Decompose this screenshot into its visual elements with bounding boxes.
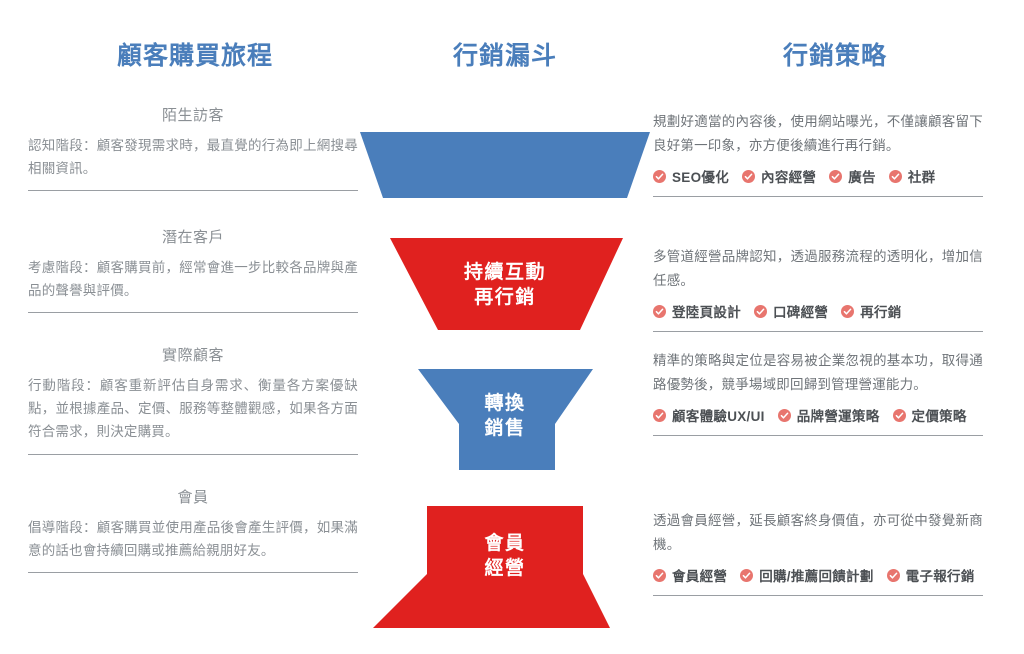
journey-stage-title: 潛在客戶	[28, 226, 358, 247]
strategy-tag-list: 顧客體驗UX/UI 品牌營運策略 定價策略	[653, 405, 983, 425]
check-circle-icon	[889, 170, 902, 183]
section-divider	[28, 454, 358, 455]
check-circle-icon	[829, 170, 842, 183]
strategy-tag-label: SEO優化	[672, 166, 729, 186]
journey-stage-2: 潛在客戶 考慮階段：顧客購買前，經常會進一步比較各品牌與產品的聲譽與評價。	[28, 226, 358, 313]
check-circle-icon	[754, 305, 767, 318]
funnel-shape-membership	[355, 506, 655, 628]
section-divider	[28, 190, 358, 191]
strategy-tag-label: 內容經營	[761, 166, 816, 186]
strategy-description: 精準的策略與定位是容易被企業忽視的基本功，取得通路優勢後，競爭場域即回歸到管理營…	[653, 349, 983, 396]
strategy-tag-label: 顧客體驗UX/UI	[672, 405, 765, 425]
strategy-tag-label: 品牌營運策略	[797, 405, 880, 425]
strategy-tag[interactable]: 品牌營運策略	[778, 405, 880, 425]
strategy-tag[interactable]: 顧客體驗UX/UI	[653, 405, 765, 425]
strategy-tag-list: 登陸頁設計 口碑經營 再行銷	[653, 301, 983, 321]
strategy-tag[interactable]: 社群	[889, 166, 936, 186]
section-divider	[28, 312, 358, 313]
funnel-segment-4[interactable]: 會員 經營	[355, 506, 655, 628]
journey-stage-description: 認知階段：顧客發現需求時，最直覺的行為即上網搜尋相關資訊。	[28, 134, 358, 180]
strategy-block-4: 透過會員經營，延長顧客終身價值，亦可從中發覺新商機。 會員經營 回購/推薦回饋計…	[653, 509, 983, 596]
funnel-shape-engagement	[355, 238, 655, 330]
strategy-block-2: 多管道經營品牌認知，透過服務流程的透明化，增加信任感。 登陸頁設計 口碑經營	[653, 245, 983, 332]
strategy-block-3: 精準的策略與定位是容易被企業忽視的基本功，取得通路優勢後，競爭場域即回歸到管理營…	[653, 349, 983, 436]
journey-stage-title: 實際顧客	[28, 344, 358, 365]
strategy-tag-label: 回購/推薦回饋計劃	[759, 565, 873, 585]
strategy-tag[interactable]: 口碑經營	[754, 301, 828, 321]
strategy-tag-label: 再行銷	[860, 301, 901, 321]
header-marketing-strategy: 行銷策略	[645, 36, 1024, 72]
strategy-tag-label: 口碑經營	[773, 301, 828, 321]
check-circle-icon	[841, 305, 854, 318]
strategy-tag[interactable]: 電子報行銷	[887, 565, 975, 585]
strategy-description: 多管道經營品牌認知，透過服務流程的透明化，增加信任感。	[653, 245, 983, 292]
check-circle-icon	[653, 409, 666, 422]
strategy-tag-label: 社群	[908, 166, 936, 186]
funnel-shape-traffic	[355, 132, 655, 198]
check-circle-icon	[653, 170, 666, 183]
journey-stage-description: 倡導階段：顧客購買並使用產品後會產生評價，如果滿意的話也會持續回購或推薦給親朋好…	[28, 516, 358, 562]
funnel-segment-1[interactable]	[355, 132, 655, 198]
journey-stage-description: 考慮階段：顧客購買前，經常會進一步比較各品牌與產品的聲譽與評價。	[28, 256, 358, 302]
check-circle-icon	[742, 170, 755, 183]
strategy-tag-list: SEO優化 內容經營 廣告	[653, 166, 983, 186]
strategy-tag-label: 定價策略	[912, 405, 967, 425]
section-divider	[653, 595, 983, 596]
strategy-tag-list: 會員經營 回購/推薦回饋計劃 電子報行銷	[653, 565, 983, 585]
check-circle-icon	[893, 409, 906, 422]
strategy-tag[interactable]: 廣告	[829, 166, 876, 186]
section-divider	[653, 435, 983, 436]
strategy-tag-label: 廣告	[848, 166, 876, 186]
journey-stage-4: 會員 倡導階段：顧客購買並使用產品後會產生評價，如果滿意的話也會持續回購或推薦給…	[28, 486, 358, 573]
journey-stage-title: 會員	[28, 486, 358, 507]
header-customer-journey: 顧客購買旅程	[0, 36, 390, 72]
section-divider	[653, 331, 983, 332]
strategy-tag-label: 電子報行銷	[906, 565, 975, 585]
funnel-infographic: 顧客購買旅程 行銷漏斗 行銷策略 陌生訪客 認知階段：顧客發現需求時，最直覺的行…	[0, 0, 1024, 654]
column-headers: 顧客購買旅程 行銷漏斗 行銷策略	[0, 0, 1024, 96]
strategy-description: 透過會員經營，延長顧客終身價值，亦可從中發覺新商機。	[653, 509, 983, 556]
strategy-tag[interactable]: 會員經營	[653, 565, 727, 585]
strategy-tag[interactable]: 登陸頁設計	[653, 301, 741, 321]
strategy-tag[interactable]: 內容經營	[742, 166, 816, 186]
journey-stage-1: 陌生訪客 認知階段：顧客發現需求時，最直覺的行為即上網搜尋相關資訊。	[28, 104, 358, 191]
check-circle-icon	[887, 569, 900, 582]
marketing-funnel-column: 持續互動 再行銷 轉換 銷售 會員 經營	[355, 104, 655, 644]
strategy-tag-label: 登陸頁設計	[672, 301, 741, 321]
check-circle-icon	[778, 409, 791, 422]
section-divider	[653, 196, 983, 197]
funnel-shape-conversion	[355, 369, 655, 470]
funnel-segment-2[interactable]: 持續互動 再行銷	[355, 238, 655, 330]
journey-stage-3: 實際顧客 行動階段：顧客重新評估自身需求、衡量各方案優缺點，並根據產品、定價、服…	[28, 344, 358, 455]
journey-stage-description: 行動階段：顧客重新評估自身需求、衡量各方案優缺點，並根據產品、定價、服務等整體觀…	[28, 374, 358, 444]
header-marketing-funnel: 行銷漏斗	[355, 36, 655, 72]
strategy-tag[interactable]: 再行銷	[841, 301, 901, 321]
strategy-description: 規劃好適當的內容後，使用網站曝光，不僅讓顧客留下良好第一印象，亦方便後續進行再行…	[653, 110, 983, 157]
strategy-tag[interactable]: 定價策略	[893, 405, 967, 425]
check-circle-icon	[653, 305, 666, 318]
section-divider	[28, 572, 358, 573]
strategy-block-1: 規劃好適當的內容後，使用網站曝光，不僅讓顧客留下良好第一印象，亦方便後續進行再行…	[653, 110, 983, 197]
check-circle-icon	[740, 569, 753, 582]
check-circle-icon	[653, 569, 666, 582]
strategy-tag[interactable]: SEO優化	[653, 166, 729, 186]
journey-stage-title: 陌生訪客	[28, 104, 358, 125]
strategy-tag[interactable]: 回購/推薦回饋計劃	[740, 565, 873, 585]
funnel-segment-3[interactable]: 轉換 銷售	[355, 369, 655, 470]
strategy-tag-label: 會員經營	[672, 565, 727, 585]
